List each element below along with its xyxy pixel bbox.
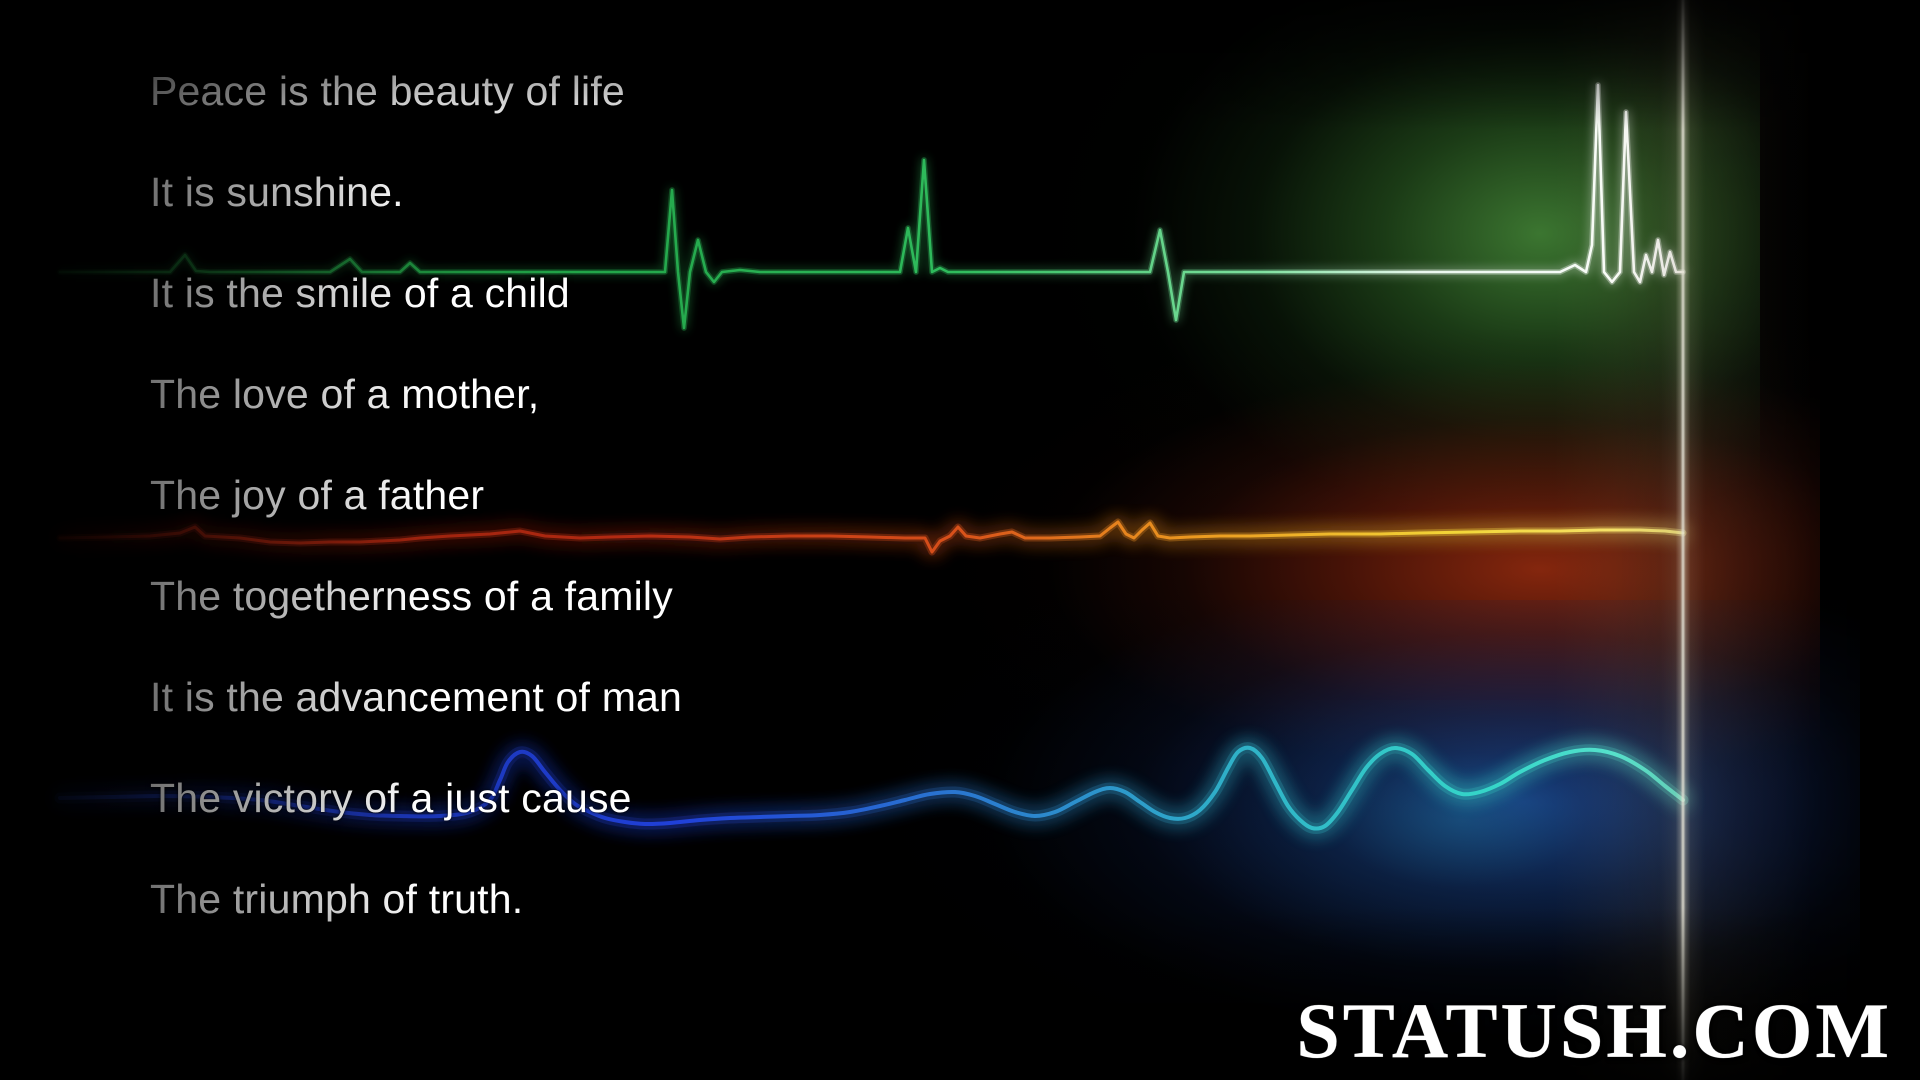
poem-line: Peace is the beauty of life [150,68,625,115]
poem-line: The victory of a just cause [150,775,632,822]
wallpaper-canvas: Peace is the beauty of life It is sunshi… [0,0,1920,1080]
teal-glow [1180,700,1740,1000]
poem-line: It is the advancement of man [150,674,682,721]
site-watermark: STATUSH.COM [1296,992,1892,1070]
poem-line: The togetherness of a family [150,573,673,620]
poem-line: The triumph of truth. [150,876,523,923]
poem-line: It is the smile of a child [150,270,570,317]
poem-line: It is sunshine. [150,169,404,216]
poem-line: The joy of a father [150,472,484,519]
light-beam-halo [1553,0,1813,1080]
poem-text-block: Peace is the beauty of life It is sunshi… [150,0,1250,1080]
light-beam [1660,0,1706,1080]
poem-line: The love of a mother, [150,371,539,418]
